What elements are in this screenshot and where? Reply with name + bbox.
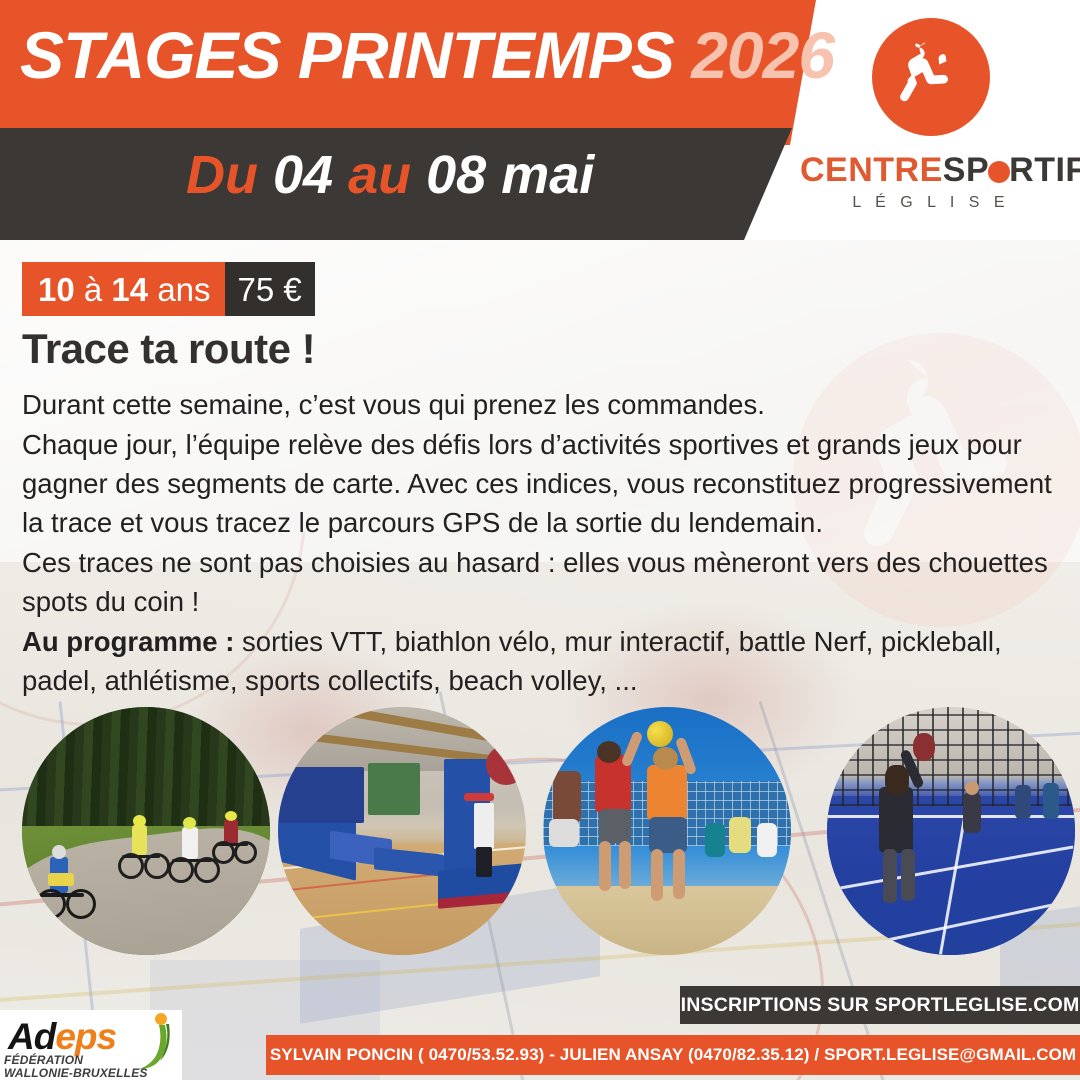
date-range: Du 04 au 08 mai (186, 148, 594, 202)
date-end: 08 mai (426, 145, 594, 205)
logo-word-sp: SP (943, 151, 989, 189)
price-badge: 75 € (225, 262, 315, 316)
description-paragraph-1: Durant cette semaine, c’est vous qui pre… (22, 385, 1068, 424)
description-paragraph-2: Chaque jour, l’équipe relève des défis l… (22, 425, 1068, 542)
photo-vtt (22, 707, 270, 955)
logo-dot-icon (988, 161, 1010, 183)
date-start: 04 (273, 145, 333, 205)
description-paragraph-3: Ces traces ne sont pas choisies au hasar… (22, 543, 1068, 621)
section-headline: Trace ta route ! (22, 328, 315, 370)
logo-word-centre: CENTRE (800, 151, 943, 189)
adeps-swoosh-icon (128, 1012, 176, 1070)
inscriptions-bar[interactable]: INSCRIPTIONS SUR SPORTLEGLISE.COM (680, 986, 1080, 1024)
page-title: STAGES PRINTEMPS 2026 (20, 22, 834, 88)
header: STAGES PRINTEMPS 2026 Du 04 au 08 mai CE… (0, 0, 1080, 240)
age-unit: ans (157, 273, 210, 306)
age-max: 14 (111, 273, 148, 306)
photo-beach-volley (543, 707, 791, 955)
date-join: au (348, 145, 411, 205)
age-min: 10 (38, 273, 75, 306)
date-prefix: Du (186, 145, 258, 205)
adeps-word-orange: eps (55, 1016, 116, 1057)
description-text: Durant cette semaine, c’est vous qui pre… (22, 385, 1068, 701)
logo-circle (872, 18, 990, 136)
logo-word-rtif: RTIF (1009, 151, 1080, 189)
age-price-badge: 10 à 14 ans 75 € (22, 262, 315, 316)
photo-padel (827, 707, 1075, 955)
adeps-word-dark: Ad (8, 1016, 55, 1057)
age-connector: à (84, 273, 102, 306)
adeps-logo: Adeps FÉDÉRATION WALLONIE-BRUXELLES (0, 1010, 182, 1080)
age-range: 10 à 14 ans (22, 262, 225, 316)
poster-root: STAGES PRINTEMPS 2026 Du 04 au 08 mai CE… (0, 0, 1080, 1080)
contact-bar[interactable]: SYLVAIN PONCIN ( 0470/53.52.93) - JULIEN… (266, 1035, 1080, 1075)
running-man-icon (888, 34, 974, 120)
programme-line: Au programme : sorties VTT, biathlon vél… (22, 622, 1068, 700)
centre-sportif-logo: CENTRESPRTIF L É G L I S E (800, 18, 1062, 212)
logo-wordmark: CENTRESPRTIF (800, 153, 1062, 187)
photo-gymnase (278, 707, 526, 955)
programme-label: Au programme : (22, 626, 234, 657)
page-title-text: STAGES PRINTEMPS (20, 18, 674, 92)
adeps-subtitle-line2: WALLONIE-BRUXELLES (4, 1067, 148, 1080)
photo-strip (0, 707, 1080, 957)
adeps-wordmark: Adeps (8, 1018, 116, 1055)
logo-location: L É G L I S E (800, 194, 1062, 212)
